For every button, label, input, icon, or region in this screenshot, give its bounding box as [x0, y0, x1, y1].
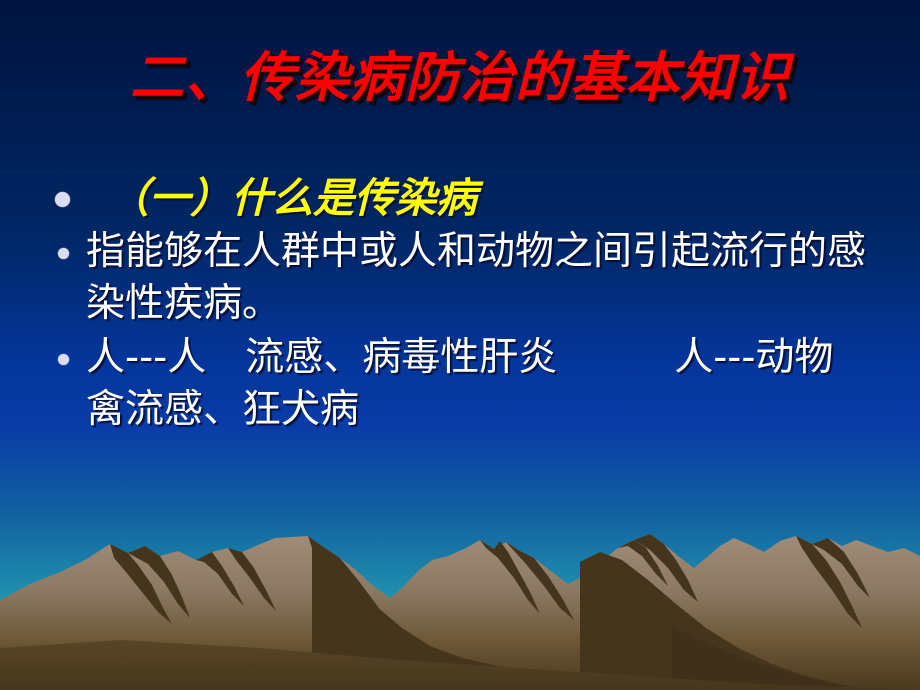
bullet-text-transmission-examples: 人---人 流感、病毒性肝炎 人---动物 禽流感、狂犬病: [86, 335, 872, 432]
circle-bullet-icon: [55, 192, 70, 207]
circle-bullet-icon: [58, 248, 69, 259]
slide-content: 二、传染病防治的基本知识 （一）什么是传染病 指能够在人群中或人和动物之间引起流…: [0, 0, 920, 690]
list-item: （一）什么是传染病: [40, 172, 884, 224]
bullet-text-definition: 指能够在人群中或人和动物之间引起流行的感染性疾病。: [86, 229, 866, 326]
bullet-list: （一）什么是传染病 指能够在人群中或人和动物之间引起流行的感染性疾病。 人---…: [40, 172, 884, 438]
circle-bullet-icon: [58, 354, 69, 365]
list-item: 指能够在人群中或人和动物之间引起流行的感染性疾病。: [40, 226, 884, 330]
page-title: 二、传染病防治的基本知识: [0, 48, 920, 108]
list-item: 人---人 流感、病毒性肝炎 人---动物 禽流感、狂犬病: [40, 332, 884, 436]
presentation-slide: 二、传染病防治的基本知识 （一）什么是传染病 指能够在人群中或人和动物之间引起流…: [0, 0, 920, 690]
bullet-text-section-heading: （一）什么是传染病: [86, 174, 477, 222]
